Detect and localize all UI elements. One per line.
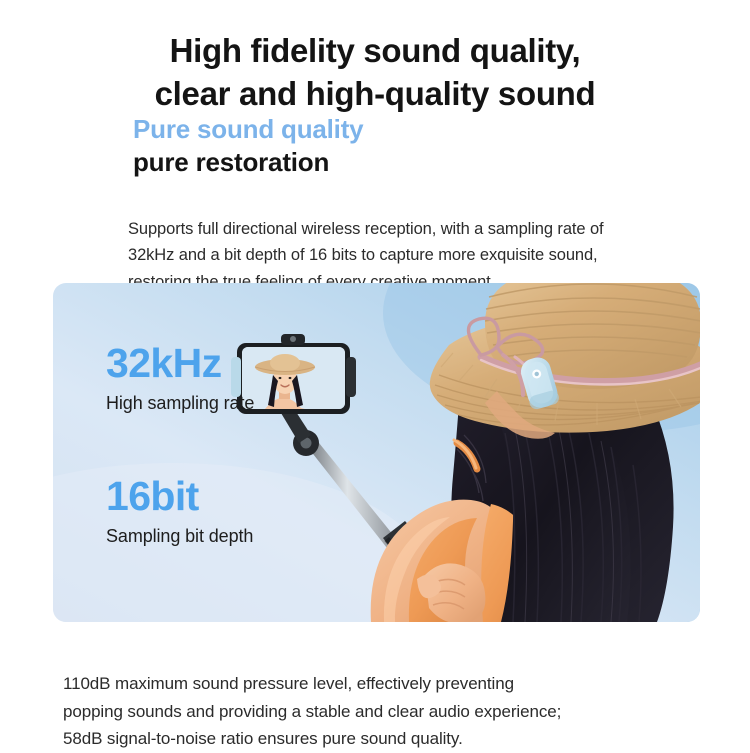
spec-callout-bit-depth: 16bit Sampling bit depth [106,476,253,547]
intro-line-1: Supports full directional wireless recep… [128,216,688,243]
outro-line-2: popping sounds and providing a stable an… [63,698,683,726]
headline-line-1: High fidelity sound quality, [170,32,581,69]
outro-paragraph: 110dB maximum sound pressure level, effe… [63,670,683,753]
lifestyle-photo [53,283,700,622]
spec-value-32khz: 32kHz [106,343,254,384]
outro-line-3: 58dB signal-to-noise ratio ensures pure … [63,725,683,753]
spec-label-bit-depth: Sampling bit depth [106,526,253,547]
page-headline: High fidelity sound quality, clear and h… [0,30,750,116]
outro-line-1: 110dB maximum sound pressure level, effe… [63,670,683,698]
subheading-secondary: pure restoration [133,146,363,179]
spec-label-sampling-rate: High sampling rate [106,393,254,414]
spec-value-16bit: 16bit [106,476,253,517]
spec-callout-sampling-rate: 32kHz High sampling rate [106,343,254,414]
intro-line-2: 32kHz and a bit depth of 16 bits to capt… [128,242,688,269]
headline-line-2: clear and high-quality sound [0,73,750,116]
product-feature-page: High fidelity sound quality, clear and h… [0,0,750,750]
phone-screen-preview [242,347,345,409]
feature-photo-card: 32kHz High sampling rate 16bit Sampling … [53,283,700,622]
subheading-accent: Pure sound quality [133,113,363,145]
subheading-block: Pure sound quality pure restoration [133,113,363,179]
